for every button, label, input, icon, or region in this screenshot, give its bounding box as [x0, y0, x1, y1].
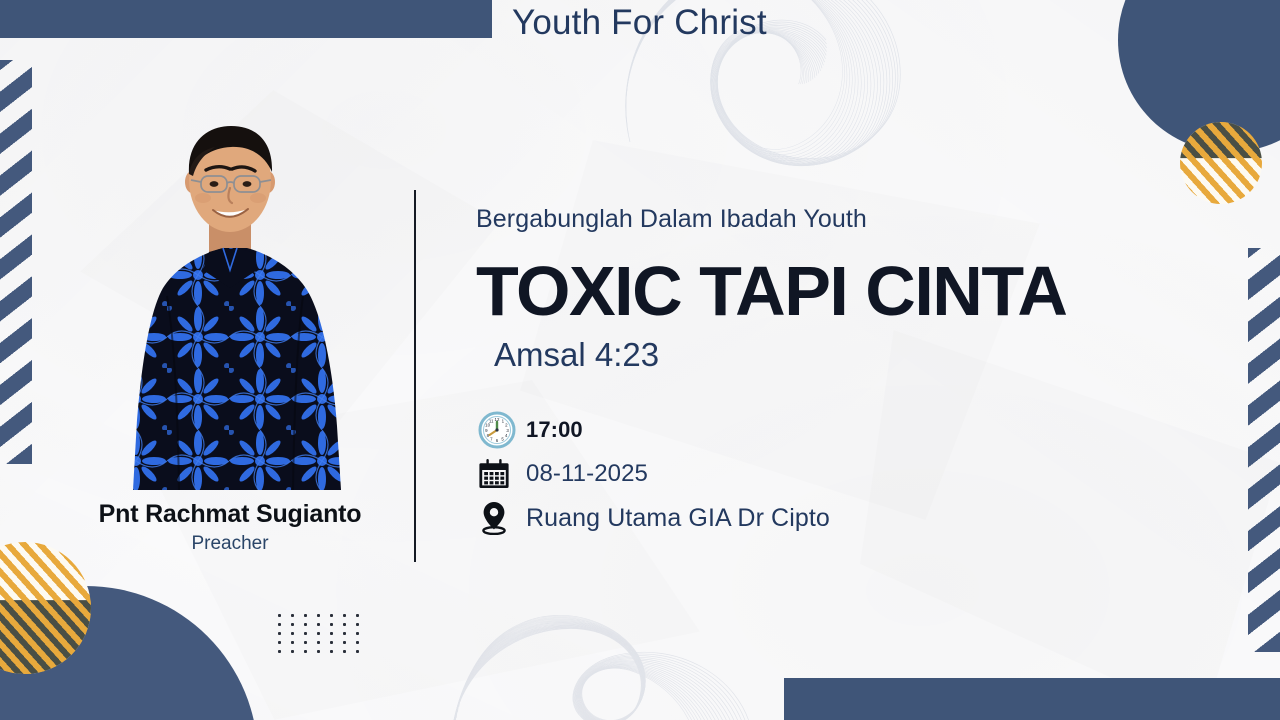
- brand-title: Youth For Christ: [512, 3, 767, 43]
- portrait-illustration: [105, 120, 355, 490]
- svg-text:11: 11: [489, 418, 494, 423]
- event-time: 17:00: [526, 417, 583, 443]
- event-details: Bergabunglah Dalam Ibadah Youth TOXIC TA…: [476, 205, 1216, 540]
- speaker-portrait: [105, 120, 355, 490]
- speaker-role: Preacher: [60, 533, 400, 555]
- vertical-divider: [414, 190, 416, 562]
- speaker-name: Pnt Rachmat Sugianto: [60, 500, 400, 529]
- location-pin-icon: [478, 501, 526, 535]
- top-left-navy-bar: [0, 0, 492, 38]
- top-right-gold-striped-circle: [1180, 122, 1262, 204]
- right-edge-diagonal-stripes: [1248, 248, 1280, 652]
- event-info-list: 12 1 2 3 4 5 6 7 8 9 10 11: [478, 408, 1216, 540]
- stripe-overlap-shade: [1180, 122, 1262, 204]
- dot-grid-decoration: [278, 614, 369, 659]
- event-title: TOXIC TAPI CINTA: [476, 256, 1216, 326]
- swirl-line-art-bottom: [440, 600, 770, 720]
- brand-header: Youth For Christ: [512, 0, 767, 46]
- calendar-icon: [478, 458, 526, 490]
- info-row-date: 08-11-2025: [478, 452, 1216, 496]
- event-flyer: Youth For Christ: [0, 0, 1280, 720]
- info-row-location: Ruang Utama GIA Dr Cipto: [478, 496, 1216, 540]
- clock-icon: 12 1 2 3 4 5 6 7 8 9 10 11: [478, 411, 526, 449]
- bible-verse-reference: Amsal 4:23: [494, 336, 1216, 374]
- event-date: 08-11-2025: [526, 460, 648, 488]
- left-edge-diagonal-stripes: [0, 60, 32, 464]
- event-location: Ruang Utama GIA Dr Cipto: [526, 504, 830, 533]
- invitation-text: Bergabunglah Dalam Ibadah Youth: [476, 205, 1216, 234]
- info-row-time: 12 1 2 3 4 5 6 7 8 9 10 11: [478, 408, 1216, 452]
- speaker-block: Pnt Rachmat Sugianto Preacher: [60, 120, 400, 555]
- bottom-right-navy-bar: [784, 678, 1280, 720]
